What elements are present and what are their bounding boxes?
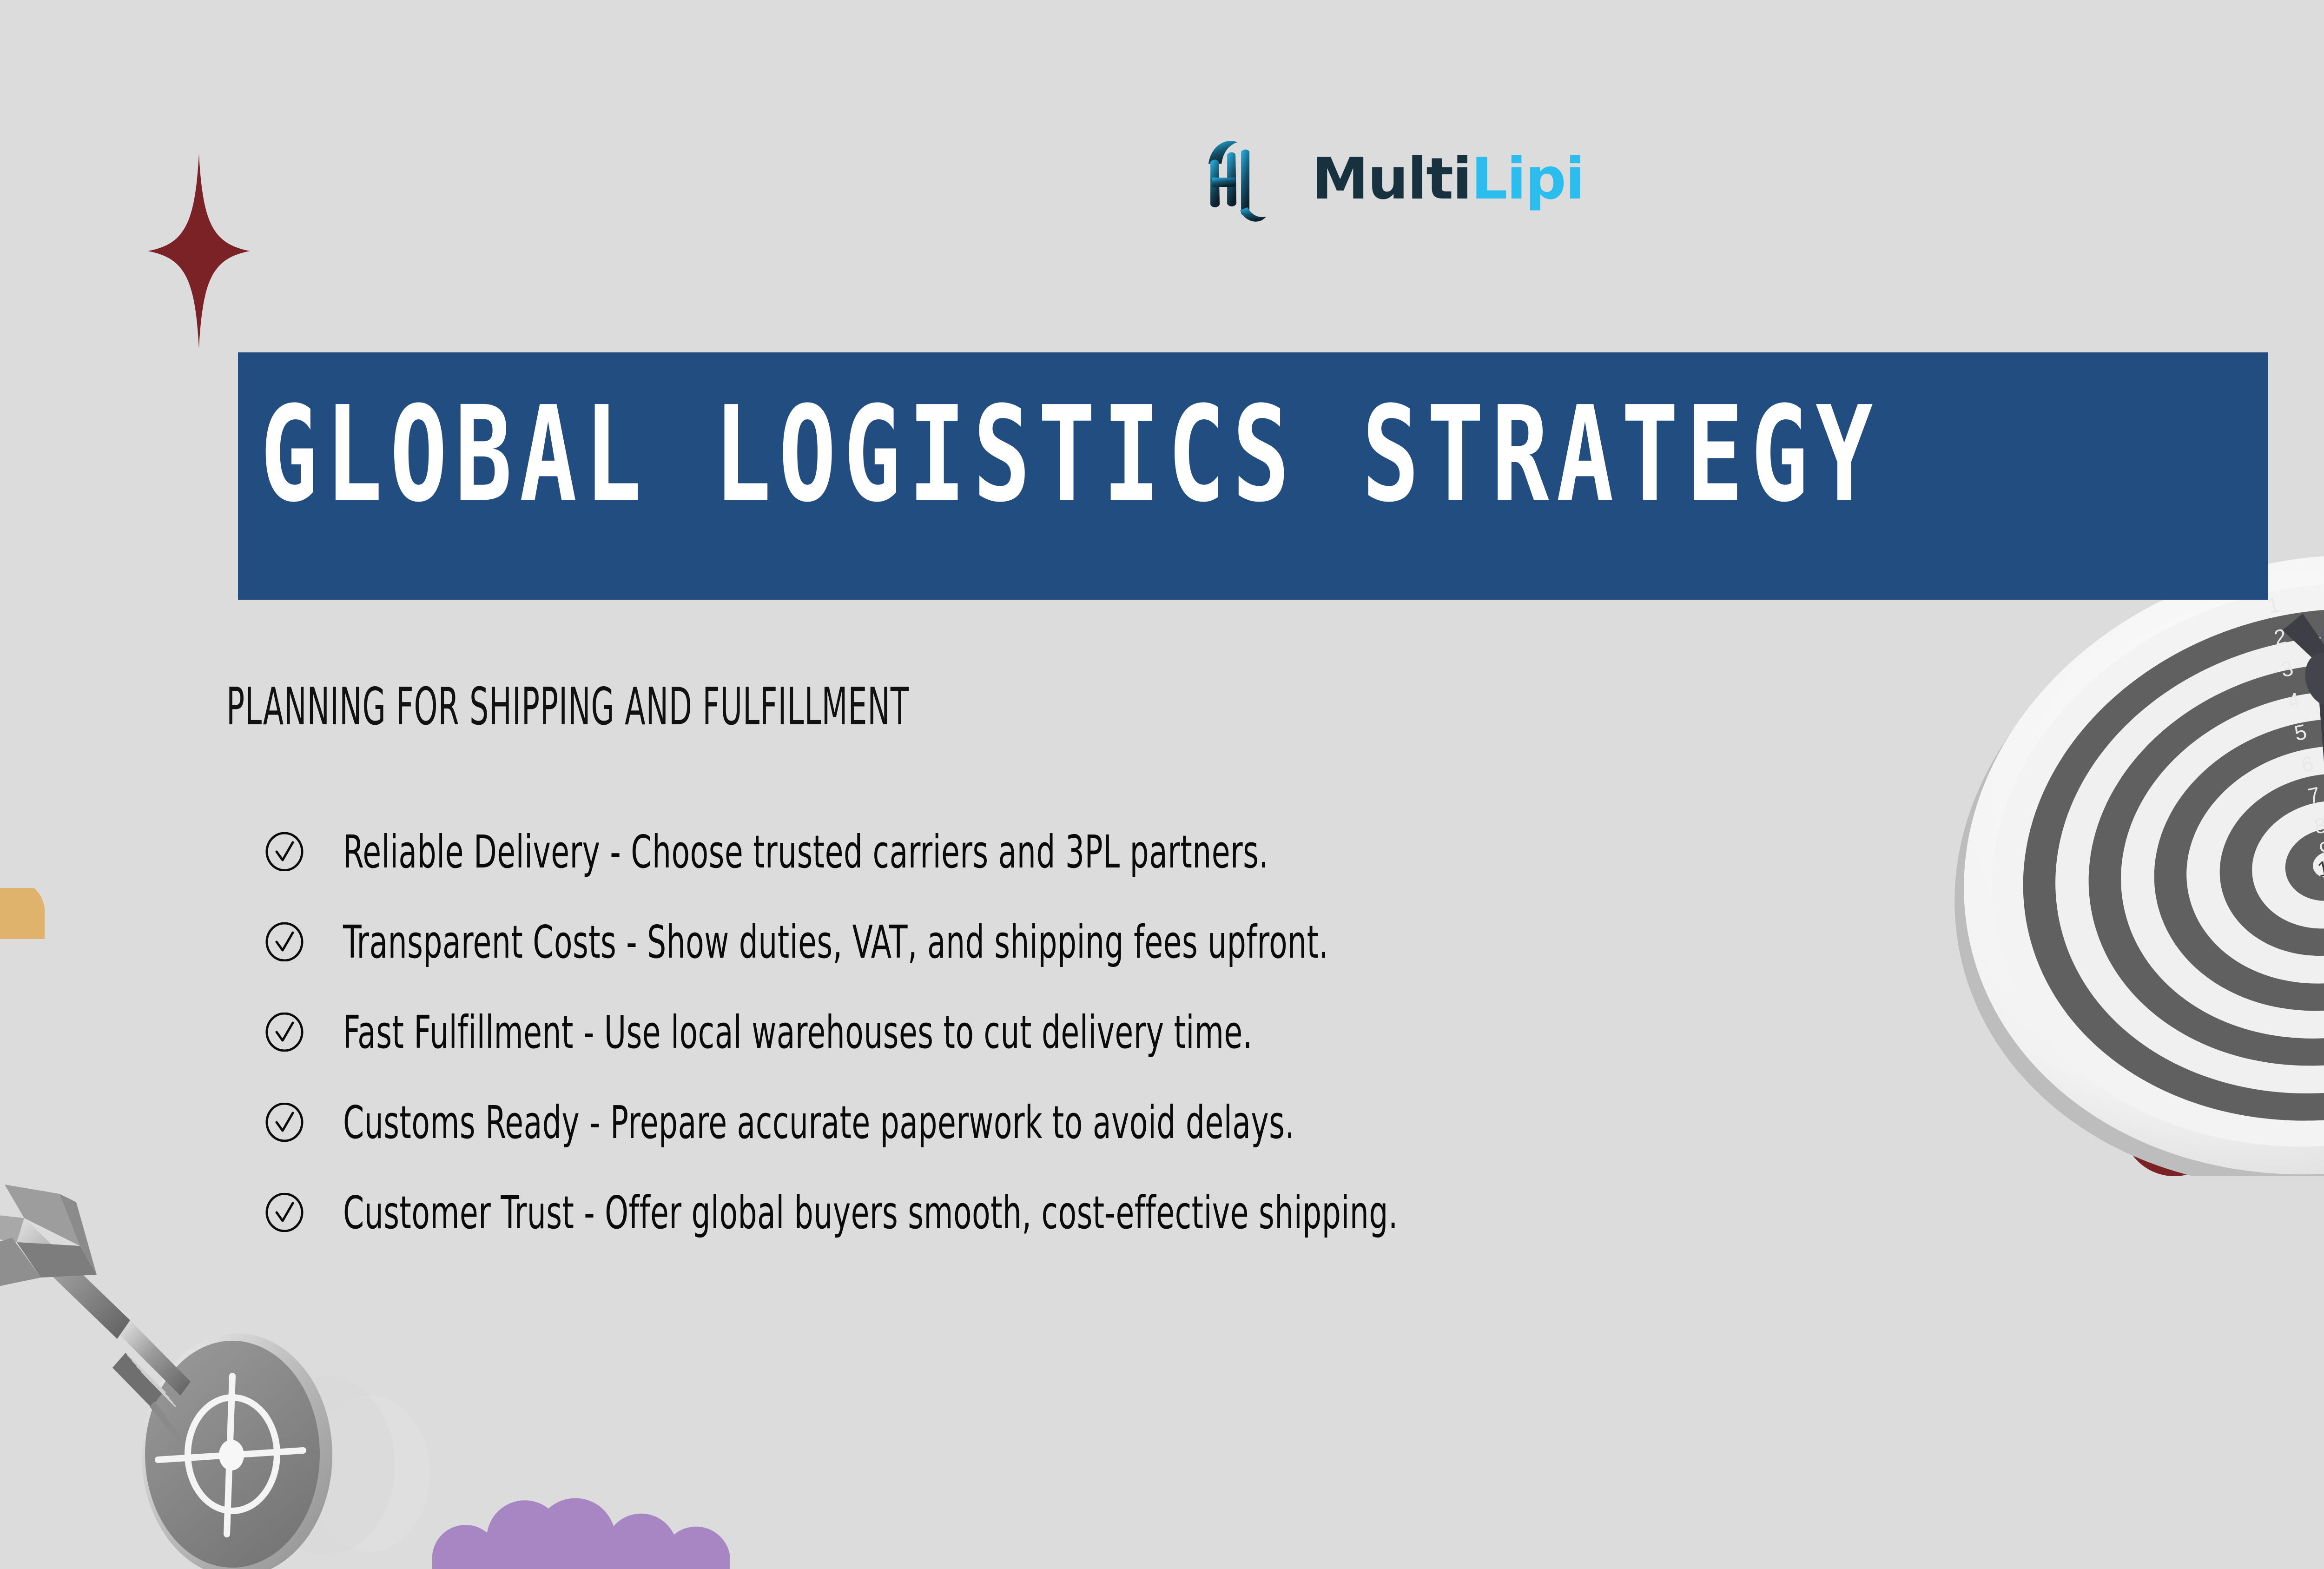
list-item: Fast Fulfillment - Use local warehouses … <box>265 987 1515 1077</box>
cloud-shape-tan-left <box>0 888 74 939</box>
hl-monogram-icon <box>1205 135 1298 223</box>
logo-wordmark: MultiLipi <box>1312 151 1584 208</box>
list-item-label: Customer Trust - Offer global buyers smo… <box>343 1186 1398 1238</box>
list-item: Transparent Costs - Show duties, VAT, an… <box>265 897 1515 987</box>
list-item-label: Fast Fulfillment - Use local warehouses … <box>343 1006 1253 1058</box>
dartboard-image: 1 2 3 4 5 6 7 8 9 10 <box>1920 544 2324 1176</box>
checklist: Reliable Delivery - Choose trusted carri… <box>265 807 1515 1258</box>
section-subtitle: PLANNING FOR SHIPPING AND FULFILLMENT <box>226 676 909 736</box>
list-item: Customs Ready - Prepare accurate paperwo… <box>265 1077 1515 1167</box>
cloud-shape-purple-bottom <box>432 1476 758 1569</box>
brand-logo[interactable]: MultiLipi <box>1205 135 1584 223</box>
list-item: Customer Trust - Offer global buyers smo… <box>265 1167 1515 1258</box>
page-title: GLOBAL LOGISTICS STRATEGY <box>260 390 1881 521</box>
logo-word-lipi: Lipi <box>1471 146 1584 212</box>
list-item: Reliable Delivery - Choose trusted carri… <box>265 807 1515 897</box>
list-item-label: Reliable Delivery - Choose trusted carri… <box>343 825 1268 878</box>
logo-word-multi: Multi <box>1312 146 1471 212</box>
check-circle-icon <box>265 1193 304 1232</box>
sparkle-star-icon <box>148 153 250 349</box>
check-circle-icon <box>265 832 304 871</box>
check-circle-icon <box>265 1103 304 1142</box>
check-circle-icon <box>265 1013 304 1052</box>
list-item-label: Transparent Costs - Show duties, VAT, an… <box>343 915 1328 968</box>
list-item-label: Customs Ready - Prepare accurate paperwo… <box>343 1096 1294 1148</box>
slide-root: 1 2 3 4 5 6 7 8 9 10 <box>0 0 2324 1569</box>
check-circle-icon <box>265 922 304 961</box>
